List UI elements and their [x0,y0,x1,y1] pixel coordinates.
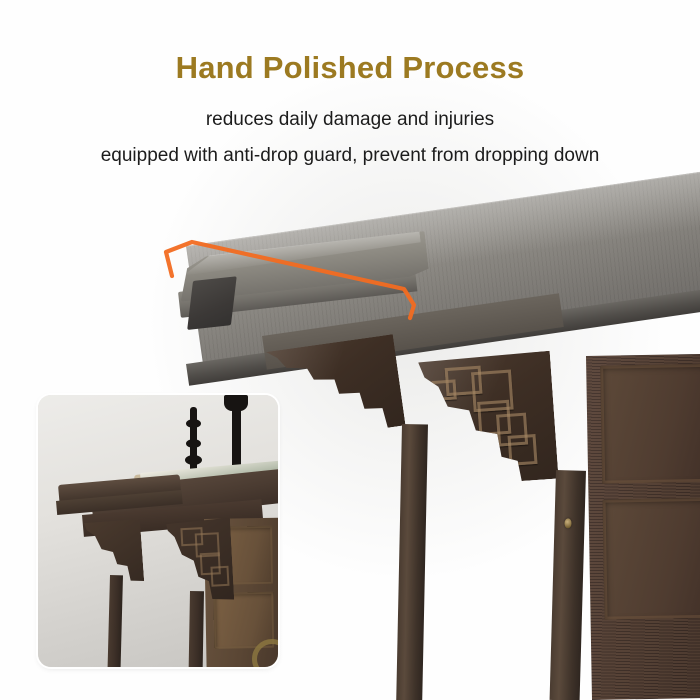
table-drawer-block [586,354,700,700]
product-feature-image: Hand Polished Process reduces daily dama… [0,0,700,700]
leg-screw-icon [564,518,571,528]
inset-table-leg-right [189,591,204,667]
subtitle-line-2: equipped with anti-drop guard, prevent f… [0,146,700,167]
candlestick-right-stem [232,395,241,473]
inset-fretwork-motif [210,566,229,587]
drawer-panel [603,498,700,620]
candlestick-left-knob [186,439,201,448]
candlestick-left-knob [186,419,201,428]
candlestick-left-knob [185,455,202,465]
guard-lip-end-cap [187,276,237,330]
inset-reference-photo[interactable] [38,395,278,667]
subtitle-line-1: reduces daily damage and injuries [0,110,700,131]
drawer-panel [600,364,700,484]
inset-table-leg-left [107,575,123,667]
table-leg-right [550,470,586,700]
page-title: Hand Polished Process [0,52,700,85]
